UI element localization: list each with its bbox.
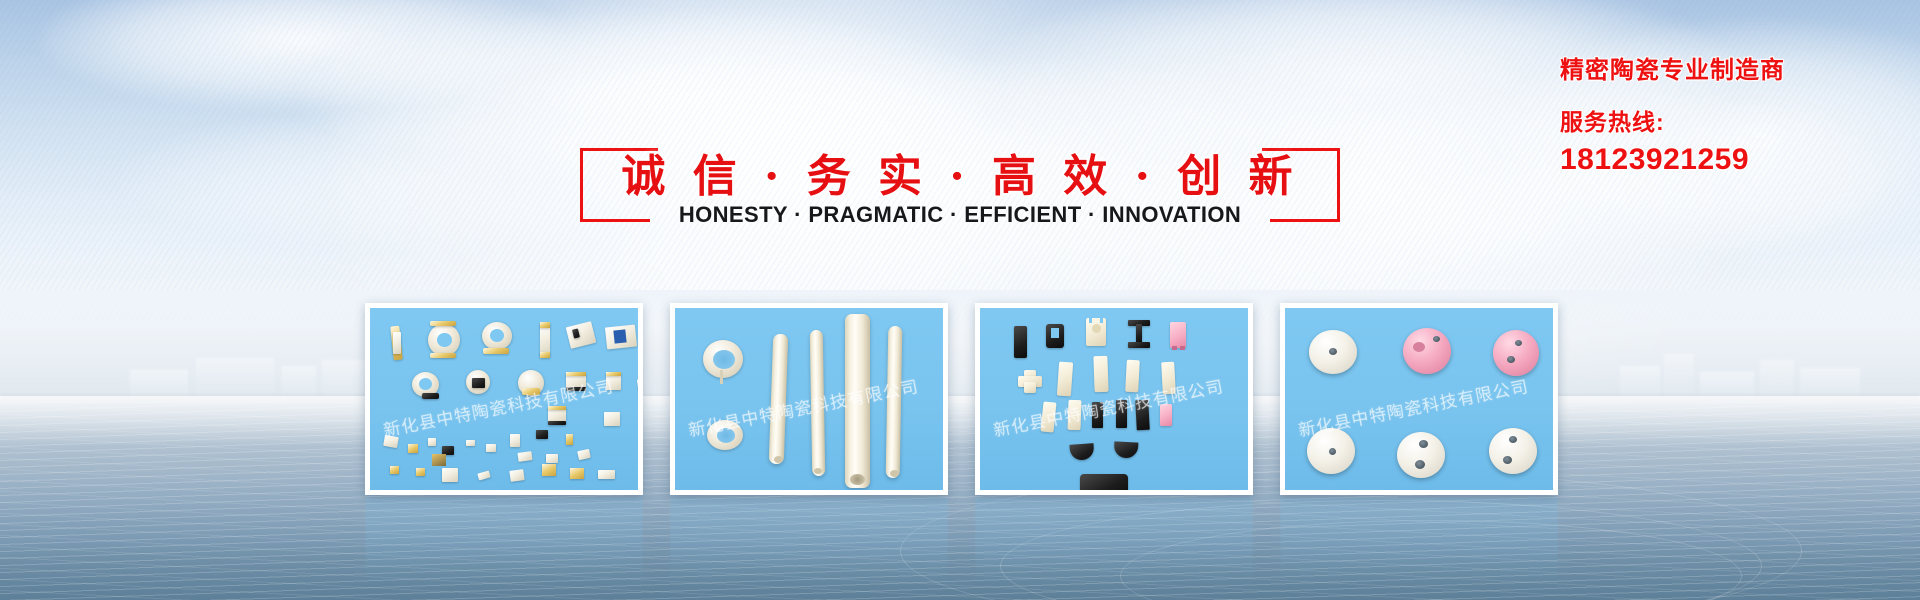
product-panel-discs[interactable]: 新化县中特陶瓷科技有限公司 xyxy=(1280,303,1558,495)
product-panel-row: 新化县中特陶瓷科技有限公司 新化县中特陶瓷科技有限公司 xyxy=(0,0,1920,600)
hero-banner: 诚 信 · 务 实 · 高 效 · 创 新 HONESTY · PRAGMATI… xyxy=(0,0,1920,600)
product-panel-structural[interactable]: 新化县中特陶瓷科技有限公司 xyxy=(975,303,1253,495)
product-panel-smd-chips[interactable]: 新化县中特陶瓷科技有限公司 xyxy=(365,303,643,495)
product-panel-tubes[interactable]: 新化县中特陶瓷科技有限公司 xyxy=(670,303,948,495)
